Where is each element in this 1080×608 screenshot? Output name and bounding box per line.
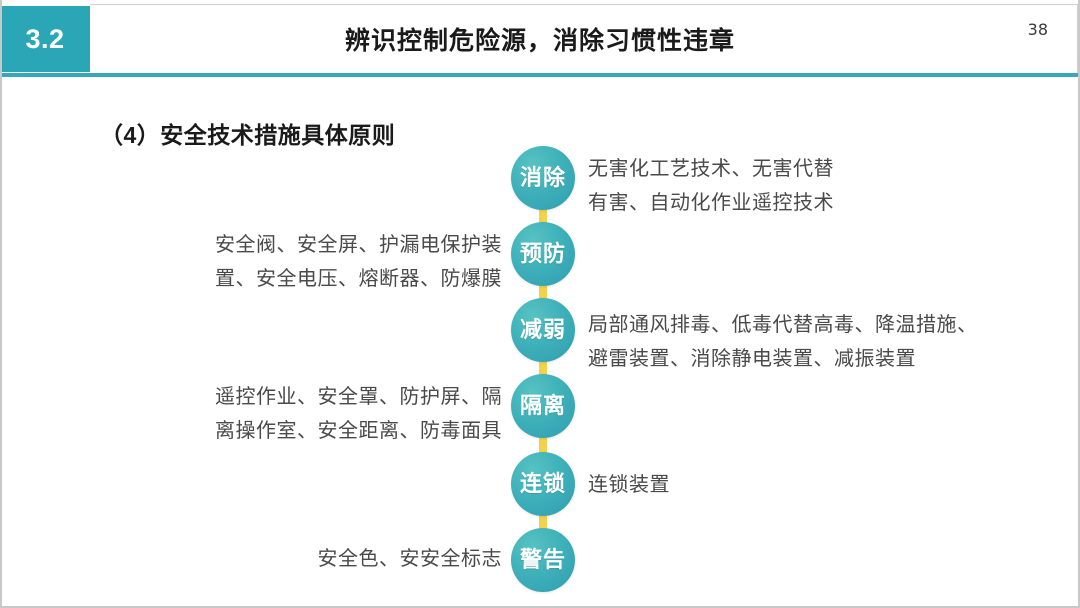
description-reduce: 局部通风排毒、低毒代替高毒、降温措施、 避雷装置、消除静电装置、减振装置	[588, 308, 998, 376]
chain-node-eliminate: 消除	[511, 146, 575, 210]
page-number: 38	[1028, 20, 1048, 39]
chain-node-label: 预防	[520, 243, 566, 265]
slide-canvas: 3.2 辨识控制危险源，消除习惯性违章 38 （4）安全技术措施具体原则 消除 …	[0, 0, 1080, 608]
chain-node-label: 减弱	[520, 319, 566, 341]
description-isolate: 遥控作业、安全罩、防护屏、隔 离操作室、安全距离、防毒面具	[182, 380, 502, 448]
description-warning: 安全色、安安全标志	[182, 542, 502, 576]
chain-node-label: 隔离	[520, 395, 566, 417]
chain-node-prevent: 预防	[511, 222, 575, 286]
description-eliminate: 无害化工艺技术、无害代替 有害、自动化作业遥控技术	[588, 152, 988, 220]
chain-node-label: 警告	[520, 549, 566, 571]
chain-node-interlock: 连锁	[511, 452, 575, 516]
section-number-chip: 3.2	[0, 6, 90, 72]
chain-node-label: 连锁	[520, 473, 566, 495]
section-number-label: 3.2	[25, 26, 64, 53]
chain-node-label: 消除	[520, 167, 566, 189]
hierarchy-chain: 消除 预防 减弱 隔离 连锁 警告	[503, 140, 583, 592]
chain-node-reduce: 减弱	[511, 298, 575, 362]
chain-node-isolate: 隔离	[511, 374, 575, 438]
page-title: 辨识控制危险源，消除习惯性违章	[90, 4, 990, 73]
chain-node-warning: 警告	[511, 528, 575, 592]
section-heading: （4）安全技术措施具体原则	[100, 116, 395, 150]
header-divider	[0, 73, 1080, 77]
description-interlock: 连锁装置	[588, 468, 888, 502]
slide-header: 3.2 辨识控制危险源，消除习惯性违章 38	[0, 0, 1080, 78]
description-prevent: 安全阀、安全屏、护漏电保护装 置、安全电压、熔断器、防爆膜	[182, 228, 502, 296]
